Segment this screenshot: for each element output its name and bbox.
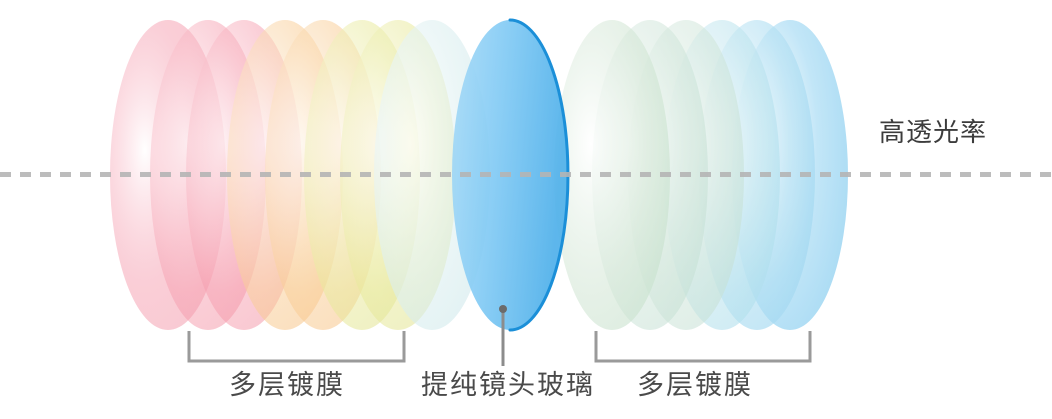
coating-layer-9 — [554, 20, 670, 330]
label-high-transmittance: 高透光率 — [879, 120, 987, 146]
pointer-head-dot — [499, 305, 507, 313]
label-left-coating: 多层镀膜 — [229, 372, 345, 399]
right-coating-bracket — [596, 331, 810, 361]
left-coating-bracket — [189, 331, 404, 361]
label-right-coating: 多层镀膜 — [637, 372, 753, 399]
lens-stack-illustration — [0, 0, 1052, 419]
label-center-glass: 提纯镜头玻璃 — [421, 372, 595, 399]
lens-diagram-canvas: 多层镀膜 提纯镜头玻璃 多层镀膜 高透光率 — [0, 0, 1052, 419]
